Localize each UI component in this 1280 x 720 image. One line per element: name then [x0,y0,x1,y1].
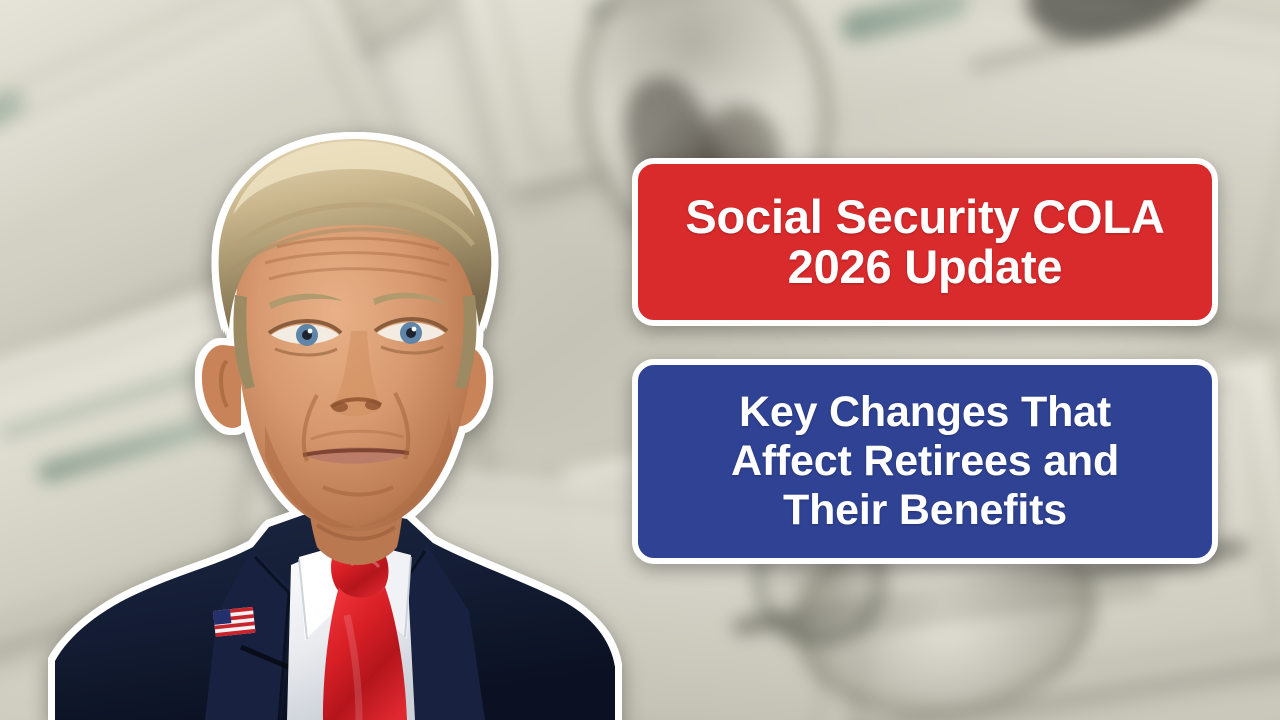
headline-text-block: Social Security COLA 2026 Update [685,192,1164,293]
subhead-line-2: Affect Retirees and [731,437,1119,486]
subject-cutout [55,95,615,720]
thumbnail-canvas: Social Security COLA 2026 Update Key Cha… [0,0,1280,720]
subhead-line-1: Key Changes That [731,388,1119,437]
subhead-text-block: Key Changes That Affect Retirees and The… [731,388,1119,535]
headline-line-1: Social Security COLA [685,192,1164,242]
subhead-banner-blue: Key Changes That Affect Retirees and The… [632,359,1218,564]
portrait-illustration [55,95,615,720]
american-flag-pin-icon [213,607,255,637]
subject-silhouette [55,95,615,720]
headline-banner-red: Social Security COLA 2026 Update [632,158,1218,326]
headline-line-2: 2026 Update [685,242,1164,292]
subhead-line-3: Their Benefits [731,486,1119,535]
